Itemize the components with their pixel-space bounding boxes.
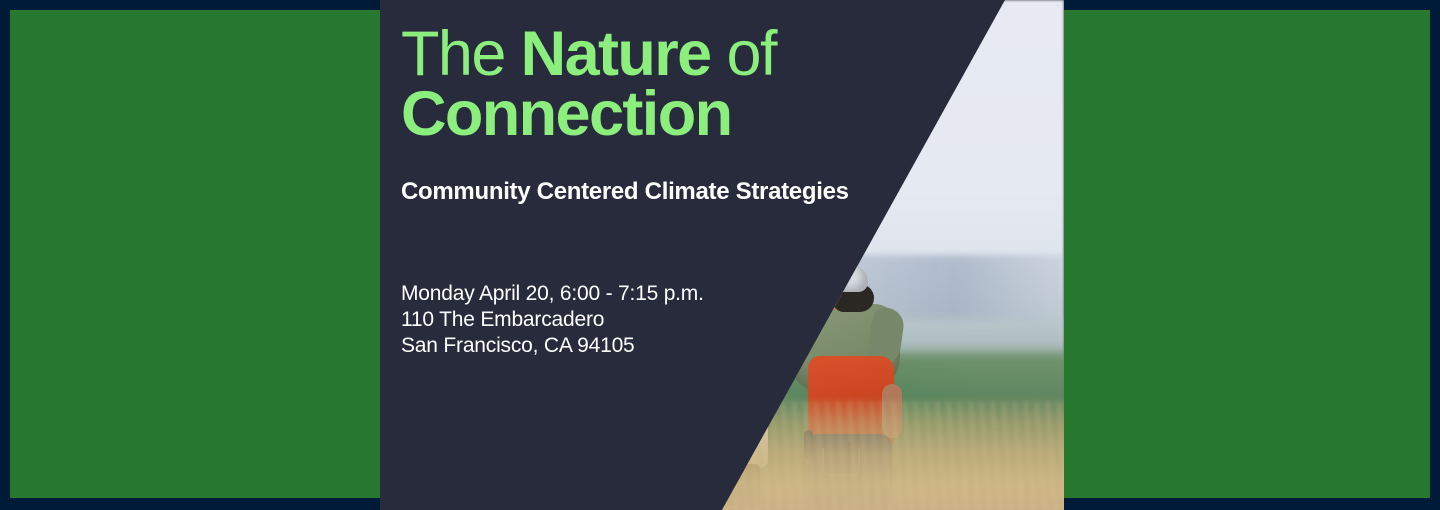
poster-headline: The Nature ofConnection [401, 24, 871, 145]
event-poster: The Nature ofConnection Community Center… [0, 0, 1440, 510]
text-layer: The Nature ofConnection Community Center… [380, 0, 1064, 510]
content-card: The Nature ofConnection Community Center… [380, 0, 1064, 510]
event-datetime: Monday April 20, 6:00 - 7:15 p.m. [401, 281, 704, 307]
event-street-address: 110 The Embarcadero [401, 307, 704, 333]
headline-connection: Connection [401, 79, 731, 149]
event-city-state-zip: San Francisco, CA 94105 [401, 333, 704, 359]
poster-subtitle: Community Centered Climate Strategies [401, 178, 921, 206]
event-details: Monday April 20, 6:00 - 7:15 p.m. 110 Th… [401, 281, 704, 359]
